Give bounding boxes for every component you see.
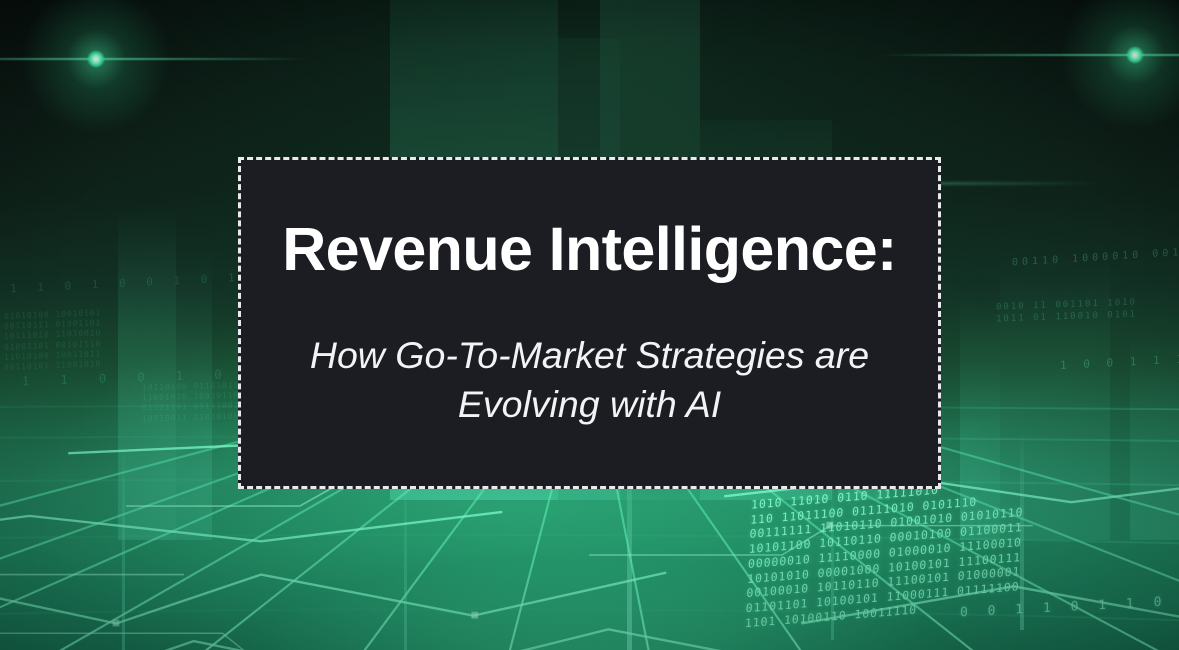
- binary-block-right-upper: 00110 1000010 0010: [1012, 246, 1179, 270]
- flare-core: [88, 51, 105, 68]
- flare-streak: [875, 54, 1179, 56]
- poster-canvas: 01010100 10010101 00110111 01001101 1011…: [0, 0, 1179, 650]
- flare-halo: [21, 0, 171, 134]
- flare-halo: [1060, 0, 1179, 130]
- binary-block-center-left: 10110100 01101011 11001010 10010110 0110…: [142, 381, 239, 425]
- flare-core: [1127, 47, 1144, 64]
- title-card: Revenue Intelligence: How Go-To-Market S…: [238, 157, 941, 489]
- page-subtitle: How Go-To-Market Strategies are Evolving…: [241, 331, 938, 429]
- binary-block-right-edge: 0010 11 001101 1010 1011 01 110010 0101: [996, 298, 1137, 326]
- page-title: Revenue Intelligence:: [264, 217, 915, 281]
- flare-streak: [0, 58, 306, 60]
- binary-block-left-faint: 01010100 10010101 00110111 01001101 1011…: [4, 308, 101, 373]
